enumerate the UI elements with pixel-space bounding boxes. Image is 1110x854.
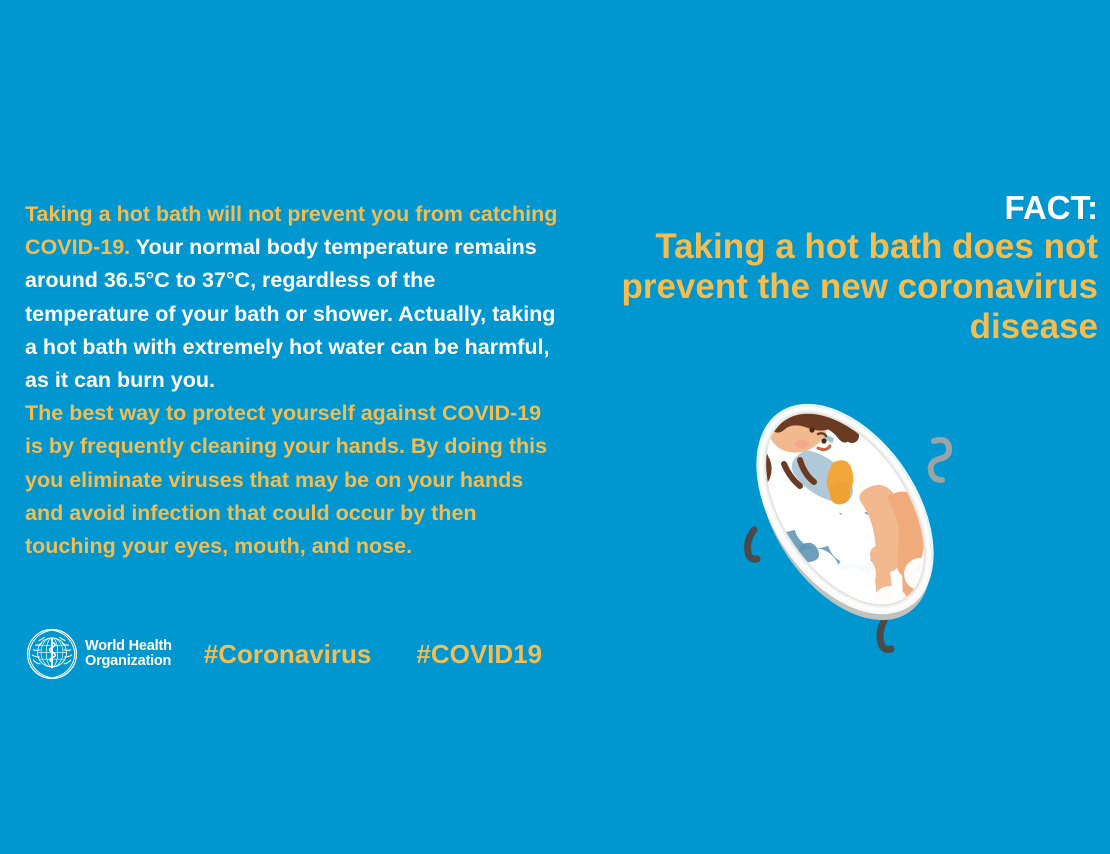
footer-row: World Health Organization #Coronavirus #… — [26, 628, 542, 680]
woman-in-bathtub-illustration — [706, 378, 996, 663]
hashtag-coronavirus[interactable]: #Coronavirus — [204, 639, 372, 669]
who-wordmark-line1: World Health — [85, 639, 172, 655]
body-copy: Taking a hot bath will not prevent you f… — [25, 198, 560, 563]
hashtag-covid19[interactable]: #COVID19 — [416, 639, 542, 669]
who-covid-myth-buster-poster: FACT: Taking a hot bath does not prevent… — [0, 0, 1110, 854]
who-logo: World Health Organization — [26, 628, 172, 680]
paragraph-two: The best way to protect yourself against… — [25, 397, 560, 563]
who-wordmark-line2: Organization — [85, 654, 172, 670]
bathtub-faucet — [931, 440, 949, 480]
fact-label: FACT: — [538, 190, 1098, 226]
paragraph-one: Taking a hot bath will not prevent you f… — [25, 198, 560, 397]
bath-contents — [706, 389, 996, 663]
page-title: Taking a hot bath does not prevent the n… — [538, 227, 1098, 347]
who-emblem-icon — [26, 628, 78, 680]
who-wordmark: World Health Organization — [85, 639, 172, 670]
headline-block: FACT: Taking a hot bath does not prevent… — [538, 190, 1098, 347]
